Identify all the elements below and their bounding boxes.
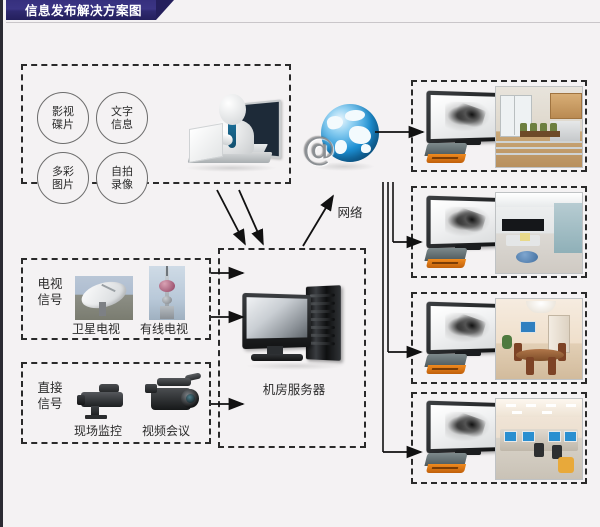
globe-landmass	[361, 144, 371, 153]
tv-screen-surface	[431, 405, 504, 449]
room-photo-kitchen-dining	[495, 86, 583, 168]
arrow-content-to-server-a	[217, 190, 245, 244]
tag-circle-colorful-picture: 多彩 图片	[37, 152, 89, 204]
tv-signal-label: 电视 信号	[29, 276, 71, 308]
tower-base	[160, 306, 174, 319]
camcorder-viewfinder	[145, 384, 157, 393]
media-box-slot	[432, 157, 458, 159]
server-computer-icon	[243, 284, 349, 376]
tv-signal-label-line2: 信号	[29, 292, 71, 308]
dining-table	[520, 131, 560, 137]
tag-line-2: 图片	[52, 178, 74, 191]
stair-rail	[496, 147, 582, 149]
tag-circle-video-disc: 影视 碟片	[37, 92, 89, 144]
tower-vent	[310, 334, 335, 337]
server-label: 机房服务器	[251, 382, 337, 398]
satellite-tv-label: 卫星电视	[65, 322, 127, 337]
tag-line-1: 多彩	[52, 165, 74, 178]
tag-circle-text-info: 文字 信息	[96, 92, 148, 144]
globe-landmass	[349, 126, 371, 144]
wall-tv	[520, 321, 536, 333]
cable-tv-label: 有线电视	[133, 322, 195, 337]
camera-lens	[77, 395, 85, 405]
stair-rail	[496, 141, 582, 143]
room-photo-warm-dining	[495, 298, 583, 380]
tv-screen-surface	[431, 95, 504, 139]
glass-partition	[554, 203, 582, 253]
page-title: 信息发布解决方案图	[25, 2, 155, 19]
tv-screen-surface	[431, 306, 504, 350]
tag-line-2: 碟片	[52, 118, 74, 131]
room-photo-office-computers	[495, 398, 583, 480]
tag-line-2: 录像	[111, 178, 133, 191]
desk-monitor	[548, 431, 561, 442]
media-player-box-1	[426, 143, 466, 165]
stair-rail	[496, 153, 582, 155]
tv-signal-label-line1: 电视	[29, 276, 71, 292]
tower-sphere-upper	[159, 280, 175, 292]
tv-tower-icon	[149, 266, 185, 320]
media-player-box-3	[426, 354, 466, 376]
ceiling-light-panel	[512, 411, 522, 414]
camcorder-lens-inner	[186, 394, 195, 403]
site-monitoring-label: 现场监控	[67, 424, 129, 439]
media-box-slot	[432, 262, 458, 264]
desk-monitor	[504, 431, 517, 442]
cushion	[520, 233, 530, 241]
desk-monitor	[522, 431, 535, 442]
tower-spike	[166, 266, 168, 276]
satellite-dish-icon	[75, 276, 133, 320]
security-camera-icon	[77, 378, 135, 420]
camcorder-handle	[157, 378, 191, 386]
blue-ottoman	[516, 251, 538, 263]
diagram-page: 信息发布解决方案图 影视 碟片 文字 信息 多彩 图片 自拍 录像 电视 信号	[0, 0, 600, 527]
network-graphic: @	[299, 104, 373, 174]
server-monitor	[242, 293, 311, 349]
tag-line-1: 影视	[52, 105, 74, 118]
camera-barrel	[81, 392, 123, 407]
tower-vent	[310, 294, 335, 298]
direct-signal-label-line1: 直接	[29, 380, 71, 396]
video-conference-label: 视频会议	[135, 424, 197, 439]
paper-sheet	[189, 123, 223, 163]
room-photo-modern-living	[495, 192, 583, 274]
tag-line-2: 信息	[111, 118, 133, 131]
header-divider	[6, 22, 600, 23]
direct-signal-label-line2: 信号	[29, 396, 71, 412]
desk-monitor	[564, 431, 577, 442]
media-player-box-2	[426, 248, 466, 270]
media-box-slot	[432, 467, 458, 469]
direct-signal-label: 直接 信号	[29, 380, 71, 412]
window-mullion	[514, 95, 515, 135]
globe-landmass	[345, 110, 365, 121]
dining-chair	[548, 357, 556, 375]
yellow-chair	[558, 457, 574, 473]
tower-vent	[310, 318, 335, 321]
arrow-content-to-server-b	[239, 190, 263, 244]
network-label: 网络	[328, 205, 372, 221]
tower-vent	[310, 342, 335, 346]
ceiling	[496, 399, 582, 417]
camera-plate	[85, 415, 107, 419]
ceiling-light-panel	[526, 404, 536, 407]
camcorder-icon	[143, 372, 205, 420]
ceiling-light-panel	[566, 404, 576, 407]
ceiling-light-panel	[506, 404, 516, 407]
kitchen-cabinets	[550, 93, 582, 119]
laptop-shadow	[185, 164, 277, 172]
tower-vent	[310, 310, 335, 313]
ceiling-lamp	[526, 301, 556, 313]
ceiling-light-panel	[546, 404, 556, 407]
office-chair	[534, 443, 544, 457]
media-player-box-4	[426, 453, 466, 475]
server-shadow	[245, 362, 345, 370]
dining-table	[516, 349, 564, 361]
ceiling-light-panel	[542, 411, 552, 414]
at-symbol-icon: @	[299, 130, 339, 170]
potted-plant	[502, 335, 512, 349]
monitor-stand	[251, 354, 303, 361]
tag-line-1: 自拍	[111, 165, 133, 178]
tower-sphere-lower	[162, 296, 172, 304]
tag-line-1: 文字	[111, 105, 133, 118]
tag-circle-selfie-video: 自拍 录像	[96, 152, 148, 204]
server-tower	[306, 285, 341, 361]
tv-screen-surface	[431, 200, 504, 244]
dining-chair	[526, 357, 534, 375]
dish-mast	[99, 302, 106, 316]
tower-vent	[310, 302, 335, 306]
person-head	[219, 94, 246, 125]
tower-vent	[310, 326, 335, 329]
media-box-slot	[432, 368, 458, 370]
person-at-laptop-icon	[177, 92, 281, 184]
dark-wall-unit	[502, 219, 544, 231]
server-monitor-screen	[247, 297, 308, 338]
arrow-server-to-network	[303, 196, 333, 246]
